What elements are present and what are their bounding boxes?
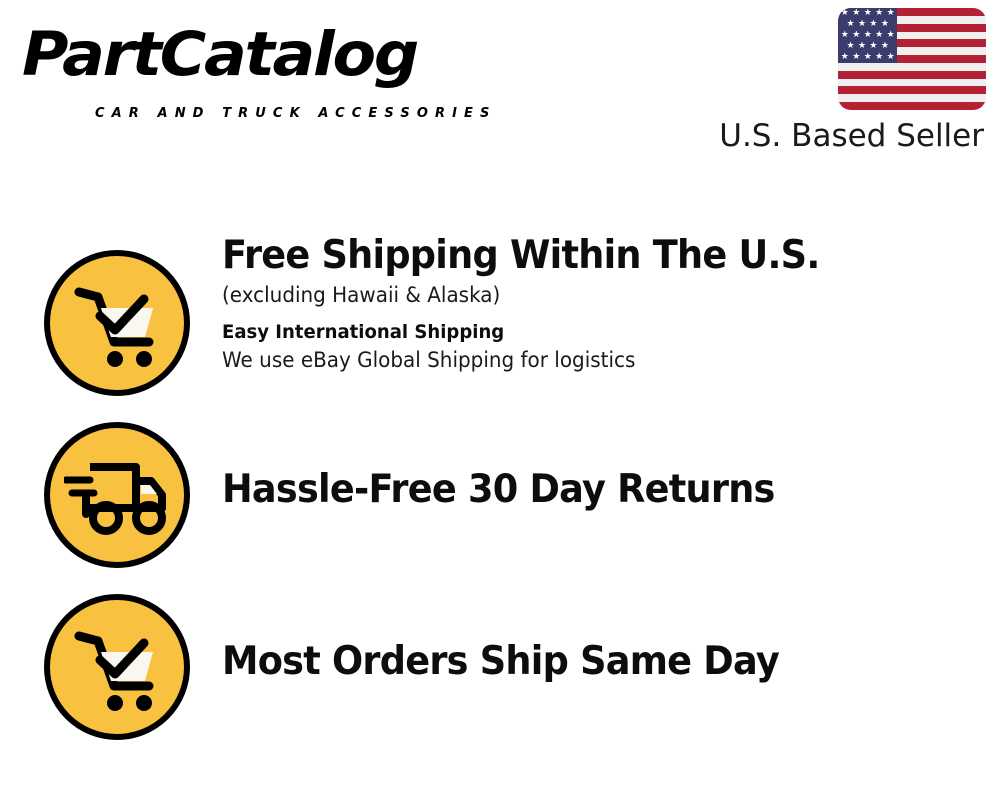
us-flag-icon: ★★★★★ ★★★★ ★★★★★ ★★★★ ★★★★★ <box>838 8 986 110</box>
seller-badge-label: U.S. Based Seller <box>716 117 986 155</box>
feature-text: Free Shipping Within The U.S. (excluding… <box>222 232 980 375</box>
brand-tagline: CAR AND TRUCK ACCESSORIES <box>95 106 497 122</box>
feature-row: Hassle-Free 30 Day Returns <box>0 422 1000 572</box>
feature-title: Free Shipping Within The U.S. <box>222 232 935 280</box>
feature-note: (excluding Hawaii & Alaska) <box>222 280 942 310</box>
feature-title: Hassle-Free 30 Day Returns <box>222 466 935 514</box>
flag-star-row: ★★★★ <box>838 19 897 30</box>
feature-icon-delivery-truck <box>44 422 190 568</box>
delivery-truck-icon <box>44 422 190 568</box>
brand-logo[interactable]: PartCatalog CAR AND TRUCK ACCESSORIES <box>22 18 502 114</box>
feature-subnote: We use eBay Global Shipping for logistic… <box>222 345 942 375</box>
shopping-cart-check-icon <box>44 594 190 740</box>
us-based-seller-badge: ★★★★★ ★★★★ ★★★★★ ★★★★ ★★★★★ U.S. Based S… <box>716 8 986 155</box>
feature-title: Most Orders Ship Same Day <box>222 638 935 686</box>
page-header: PartCatalog CAR AND TRUCK ACCESSORIES ★★… <box>0 0 1000 170</box>
flag-star-row: ★★★★★ <box>838 8 897 19</box>
feature-row: Free Shipping Within The U.S. (excluding… <box>0 232 1000 410</box>
feature-icon-shopping-cart-check <box>44 250 190 396</box>
feature-row: Most Orders Ship Same Day <box>0 594 1000 744</box>
flag-star-row: ★★★★ <box>838 41 897 52</box>
shopping-cart-check-icon <box>44 250 190 396</box>
feature-subtitle: Easy International Shipping <box>222 319 942 345</box>
brand-wordmark: PartCatalog <box>22 18 417 92</box>
feature-icon-shopping-cart-check <box>44 594 190 740</box>
flag-star-row: ★★★★★ <box>838 30 897 41</box>
feature-text: Most Orders Ship Same Day <box>222 638 980 686</box>
flag-canton: ★★★★★ ★★★★ ★★★★★ ★★★★ ★★★★★ <box>838 8 897 63</box>
flag-star-row: ★★★★★ <box>838 52 897 63</box>
feature-text: Hassle-Free 30 Day Returns <box>222 466 980 514</box>
